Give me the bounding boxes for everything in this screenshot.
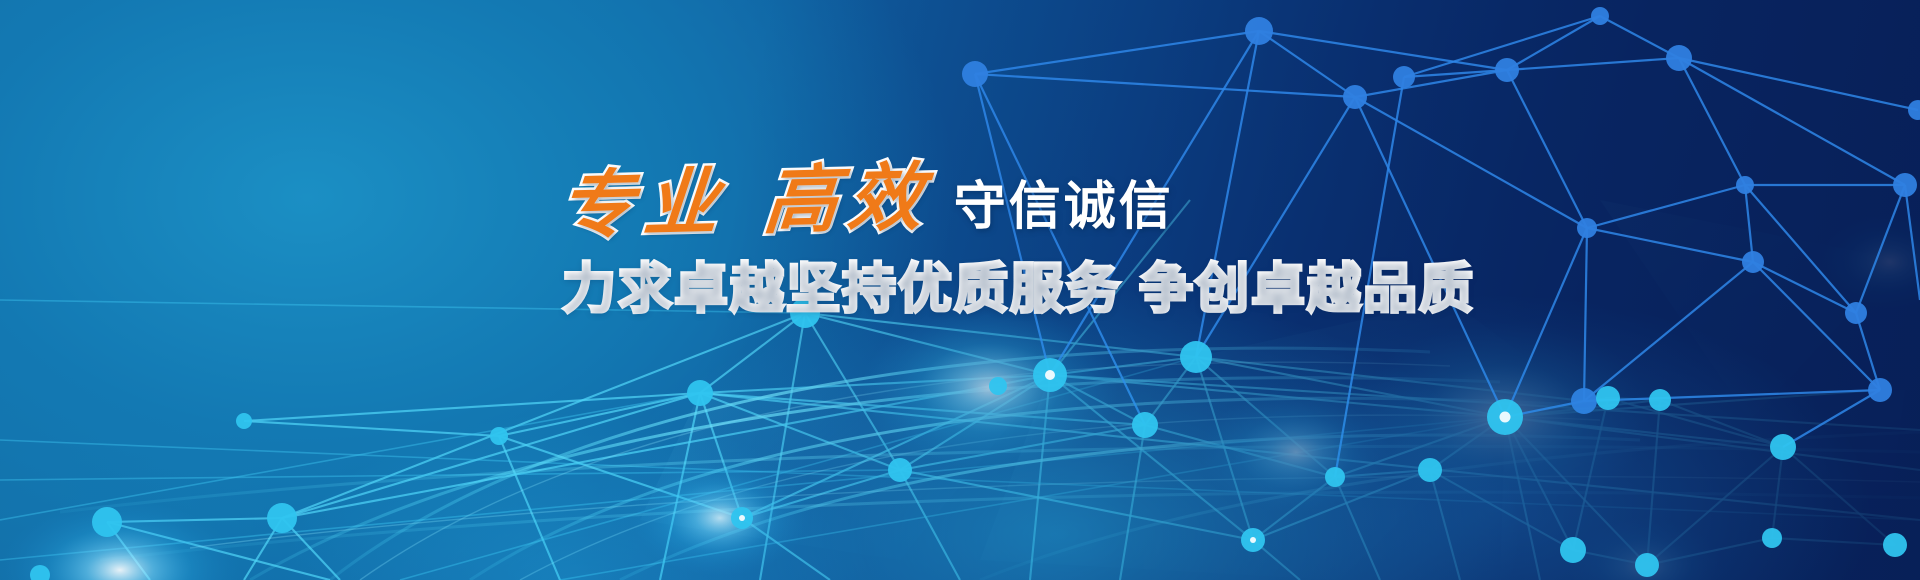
node-highlights xyxy=(739,370,1511,543)
promotional-banner: 专业 高效 守信诚信 力求卓越坚持优质服务 争创卓越品质 xyxy=(0,0,1920,580)
network-nodes-cyan xyxy=(0,0,1920,580)
